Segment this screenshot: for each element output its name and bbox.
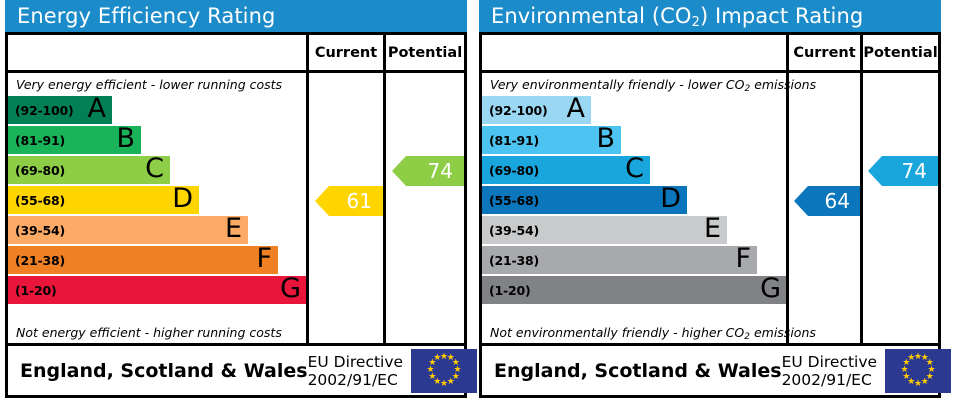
band-letter: B: [596, 125, 615, 155]
chart-title-subscript: 2: [692, 15, 700, 30]
band-e: (39-54) E: [8, 216, 248, 244]
caption-bottom-energy: Not energy efficient - higher running co…: [8, 322, 306, 343]
potential-rating-marker-energy: 74: [392, 156, 464, 186]
footer-row-environmental: England, Scotland & Wales EU Directive 2…: [482, 343, 938, 395]
band-list-environmental: (92-100) A (81-91) B (69-80) C (55-68): [482, 95, 786, 322]
band-d: (55-68) D: [8, 186, 199, 214]
directive-line-1: EU Directive: [782, 353, 878, 371]
band-range: (55-68): [489, 193, 539, 208]
potential-rating-marker-environmental: 74: [868, 156, 938, 186]
directive-line-2: 2002/91/EC: [308, 371, 404, 389]
footer-directive-environmental: EU Directive 2002/91/EC: [782, 353, 886, 389]
band-letter: B: [116, 125, 135, 155]
environmental-co2-impact-rating-chart: Environmental (CO2) Impact Rating Curren…: [474, 0, 946, 404]
band-range: (92-100): [15, 103, 74, 118]
header-potential: Potential: [383, 35, 464, 70]
current-column-energy: 61: [306, 73, 383, 343]
epc-table-energy: Current Potential Very energy efficient …: [5, 32, 467, 398]
band-range: (92-100): [489, 103, 548, 118]
band-b: (81-91) B: [482, 126, 621, 154]
directive-line-1: EU Directive: [308, 353, 404, 371]
energy-efficiency-rating-chart: Energy Efficiency Rating Current Potenti…: [0, 0, 472, 404]
potential-column-energy: 74: [383, 73, 464, 343]
band-range: (81-91): [15, 133, 65, 148]
table-header-row: Current Potential: [8, 35, 464, 73]
footer-directive-energy: EU Directive 2002/91/EC: [308, 353, 412, 389]
epc-charts-page: Energy Efficiency Rating Current Potenti…: [0, 0, 957, 404]
band-letter: G: [280, 275, 301, 305]
current-rating-marker-energy: 61: [315, 186, 383, 216]
band-letter: C: [145, 155, 164, 185]
band-g: (1-20) G: [8, 276, 307, 304]
band-range: (81-91): [489, 133, 539, 148]
band-range: (21-38): [489, 253, 539, 268]
caption-bottom-subscript: 2: [744, 332, 750, 342]
header-blank-cell: [8, 35, 306, 70]
header-potential: Potential: [860, 35, 938, 70]
band-f: (21-38) F: [8, 246, 278, 274]
chart-title-text: Energy Efficiency Rating: [17, 4, 275, 28]
current-rating-value: 61: [347, 189, 372, 213]
header-blank-cell: [482, 35, 786, 70]
potential-rating-value: 74: [902, 159, 927, 183]
caption-top-prefix: Very environmentally friendly - lower CO: [490, 77, 744, 92]
band-letter: D: [172, 185, 193, 215]
band-c: (69-80) C: [482, 156, 650, 184]
potential-column-environmental: 74: [860, 73, 938, 343]
footer-region-environmental: England, Scotland & Wales: [482, 360, 782, 382]
header-current: Current: [786, 35, 860, 70]
current-rating-marker-environmental: 64: [794, 186, 861, 216]
band-range: (39-54): [15, 223, 65, 238]
band-letter: E: [225, 215, 242, 245]
current-column-environmental: 64: [786, 73, 860, 343]
band-range: (69-80): [489, 163, 539, 178]
caption-top-energy: Very energy efficient - lower running co…: [8, 73, 306, 95]
eu-star-icon: ★: [907, 354, 916, 363]
band-letter: F: [735, 245, 751, 275]
band-range: (39-54): [489, 223, 539, 238]
eu-star-icon: ★: [433, 354, 442, 363]
epc-table-environmental: Current Potential Very environmentally f…: [479, 32, 941, 398]
caption-bottom-prefix: Not environmentally friendly - higher CO: [490, 325, 744, 340]
band-letter: D: [660, 185, 681, 215]
footer-row-energy: England, Scotland & Wales EU Directive 2…: [8, 343, 464, 395]
footer-region-energy: England, Scotland & Wales: [8, 360, 308, 382]
caption-top-subscript: 2: [744, 84, 750, 94]
table-body-row: Very environmentally friendly - lower CO…: [482, 73, 938, 343]
header-current: Current: [306, 35, 383, 70]
chart-title-suffix: ) Impact Rating: [700, 4, 863, 28]
band-c: (69-80) C: [8, 156, 170, 184]
band-list-energy: (92-100) A (81-91) B (69-80) C (55-68): [8, 95, 306, 322]
band-letter: G: [760, 275, 781, 305]
band-letter: E: [704, 215, 721, 245]
band-letter: A: [88, 95, 106, 125]
eu-flag-icon: ★★★★★★★★★★★★: [411, 349, 477, 393]
eu-flag-icon: ★★★★★★★★★★★★: [885, 349, 951, 393]
table-header-row: Current Potential: [482, 35, 938, 73]
band-range: (1-20): [489, 283, 531, 298]
band-range: (1-20): [15, 283, 57, 298]
potential-rating-value: 74: [428, 159, 453, 183]
band-b: (81-91) B: [8, 126, 141, 154]
chart-title-environmental: Environmental (CO2) Impact Rating: [479, 0, 941, 32]
band-range: (69-80): [15, 163, 65, 178]
chart-title-prefix: Environmental (CO: [491, 4, 692, 28]
chart-title-energy: Energy Efficiency Rating: [5, 0, 467, 32]
current-rating-value: 64: [825, 189, 850, 213]
directive-line-2: 2002/91/EC: [782, 371, 878, 389]
bands-column-energy: Very energy efficient - lower running co…: [8, 73, 306, 343]
band-d: (55-68) D: [482, 186, 687, 214]
band-letter: F: [256, 245, 272, 275]
band-range: (55-68): [15, 193, 65, 208]
band-a: (92-100) A: [482, 96, 591, 124]
band-g: (1-20) G: [482, 276, 787, 304]
band-letter: C: [625, 155, 644, 185]
band-e: (39-54) E: [482, 216, 727, 244]
bands-column-environmental: Very environmentally friendly - lower CO…: [482, 73, 786, 343]
caption-top-environmental: Very environmentally friendly - lower CO…: [482, 73, 786, 95]
band-letter: A: [567, 95, 585, 125]
caption-bottom-environmental: Not environmentally friendly - higher CO…: [482, 322, 786, 343]
table-body-row: Very energy efficient - lower running co…: [8, 73, 464, 343]
band-a: (92-100) A: [8, 96, 112, 124]
band-f: (21-38) F: [482, 246, 757, 274]
band-range: (21-38): [15, 253, 65, 268]
